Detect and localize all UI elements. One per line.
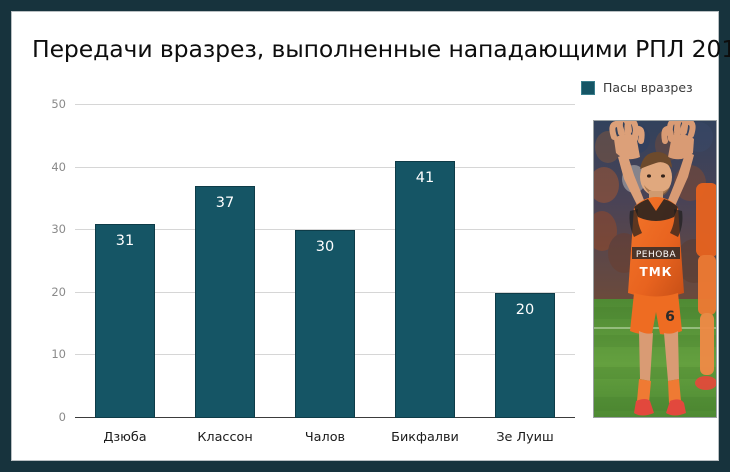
legend-item-label: Пасы вразрез [603, 80, 693, 95]
bar-value-label: 30 [296, 239, 354, 255]
y-axis-tick-label: 20 [51, 285, 66, 299]
bar-value-label: 41 [396, 170, 454, 186]
svg-text:ТМК: ТМК [640, 265, 673, 279]
y-axis-tick-label: 50 [51, 97, 66, 111]
x-axis-category-label: Чалов [275, 430, 375, 445]
svg-text:РЕНОВА: РЕНОВА [636, 250, 677, 260]
bar-slot: 30Чалов [275, 105, 375, 418]
bar-series: 31Дзюба37Классон30Чалов41Бикфалви20Зе Лу… [75, 105, 575, 418]
bar-slot: 41Бикфалви [375, 105, 475, 418]
decorative-frame: Передачи вразрез, выполненные нападающим… [0, 0, 730, 472]
bar-slot: 20Зе Луиш [475, 105, 575, 418]
bar[interactable]: 41 [395, 161, 455, 418]
bar[interactable]: 37 [195, 186, 255, 418]
bar[interactable]: 20 [495, 293, 555, 418]
bar-slot: 37Классон [175, 105, 275, 418]
y-axis-tick-label: 40 [51, 160, 66, 174]
frame-inner: Передачи вразрез, выполненные нападающим… [11, 11, 719, 461]
bar-value-label: 20 [496, 302, 554, 318]
x-axis-category-label: Дзюба [75, 430, 175, 445]
chart-card: Передачи вразрез, выполненные нападающим… [12, 12, 718, 460]
chart-legend: Пасы вразрез [581, 80, 693, 95]
legend-swatch-icon [581, 81, 595, 95]
player-photo: РЕНОВА ТМК 6 [593, 120, 717, 418]
page-title: Передачи вразрез, выполненные нападающим… [32, 34, 702, 64]
x-axis-category-label: Классон [175, 430, 275, 445]
y-axis-tick-label: 0 [59, 410, 66, 424]
x-axis-category-label: Зе Луиш [475, 430, 575, 445]
bar-value-label: 37 [196, 195, 254, 211]
bar-value-label: 31 [96, 233, 154, 249]
bar[interactable]: 31 [95, 224, 155, 418]
y-axis-tick-label: 10 [51, 347, 66, 361]
svg-text:6: 6 [665, 309, 675, 325]
bar-slot: 31Дзюба [75, 105, 175, 418]
y-axis-tick-label: 30 [51, 222, 66, 236]
bar[interactable]: 30 [295, 230, 355, 418]
plot-area: 01020304050 31Дзюба37Классон30Чалов41Бик… [75, 105, 575, 418]
x-axis-category-label: Бикфалви [375, 430, 475, 445]
